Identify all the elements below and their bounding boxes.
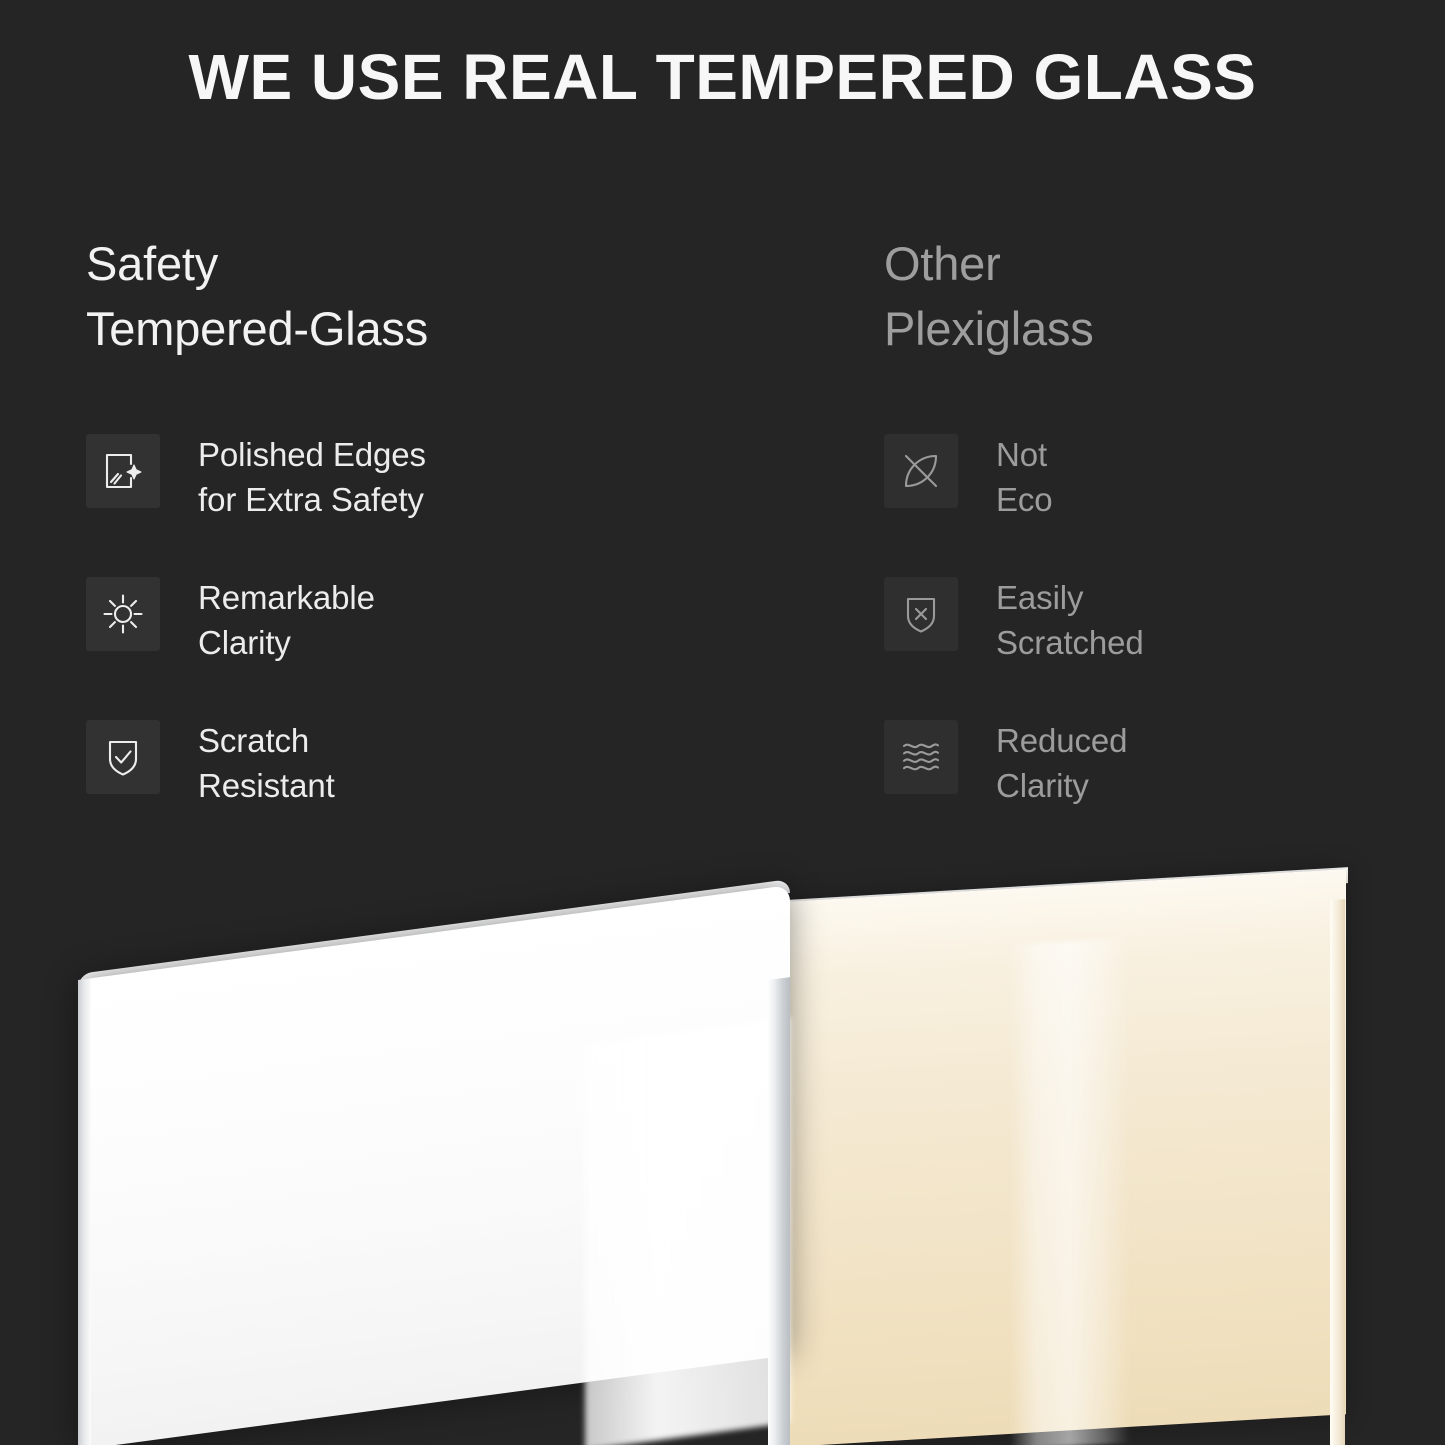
glass-polished-left-edge (78, 978, 91, 1445)
glass-comparison-infographic: WE USE REAL TEMPERED GLASS Safety Temper… (0, 0, 1445, 1445)
feature-item: Not Eco (884, 430, 1445, 573)
column-title-line1: Other (884, 232, 1445, 297)
product-photo (0, 840, 1445, 1445)
feature-item: Easily Scratched (884, 573, 1445, 716)
comparison-columns: Safety Tempered-Glass Polis (0, 232, 1445, 859)
feature-label-line1: Reduced (996, 718, 1127, 764)
feature-label-line2: Eco (996, 477, 1053, 523)
glass-polished-right-edge (768, 977, 790, 1445)
feature-label-line2: Clarity (996, 763, 1127, 809)
column-title-line2: Plexiglass (884, 297, 1445, 362)
column-title-plexiglass: Other Plexiglass (884, 232, 1445, 362)
column-plexiglass: Other Plexiglass Not Eco (0, 232, 1445, 859)
page-title: WE USE REAL TEMPERED GLASS (0, 44, 1445, 111)
feature-label-line1: Not (996, 432, 1053, 478)
plexiglass-gloss-reflection (1010, 938, 1130, 1445)
feature-label: Not Eco (996, 430, 1053, 523)
feature-list-plexiglass: Not Eco Easily Scratc (884, 430, 1445, 859)
glass-surface-reflection (585, 1018, 790, 1445)
feature-item: Reduced Clarity (884, 716, 1445, 859)
feature-label: Easily Scratched (996, 573, 1144, 666)
plexiglass-right-edge (1330, 899, 1345, 1445)
shield-x-icon (884, 577, 958, 651)
wavy-lines-icon (884, 720, 958, 794)
leaf-crossed-out-icon (884, 434, 958, 508)
feature-label: Reduced Clarity (996, 716, 1127, 809)
feature-label-line1: Easily (996, 575, 1144, 621)
feature-label-line2: Scratched (996, 620, 1144, 666)
